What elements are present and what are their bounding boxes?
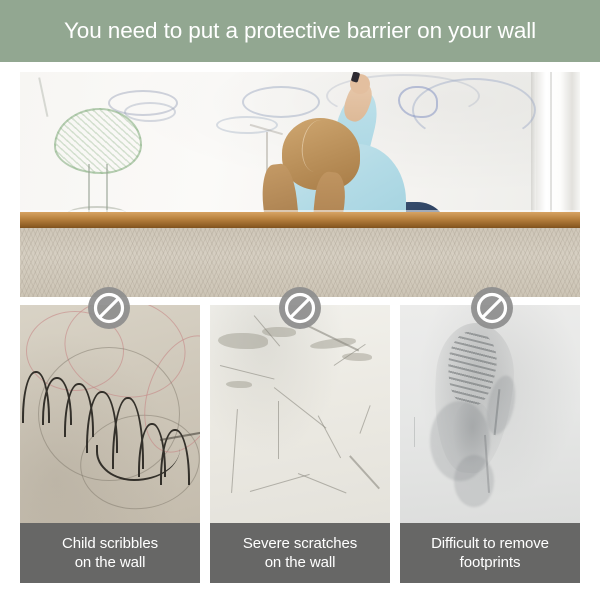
scuff-line-3 xyxy=(414,417,415,447)
no-sign-icon xyxy=(279,287,321,329)
door-trim xyxy=(536,72,580,232)
prohibition-badge-1 xyxy=(88,287,130,329)
caption-line-1: Difficult to remove xyxy=(431,534,549,553)
card-caption-child-scribbles: Child scribbles on the wall xyxy=(20,523,200,583)
caption-line-1: Severe scratches xyxy=(243,534,357,553)
crayon-tree-trunk-doodle xyxy=(88,164,108,212)
door-trim-line xyxy=(550,72,552,232)
page-title: You need to put a protective barrier on … xyxy=(64,18,536,44)
card-caption-difficult-footprints: Difficult to remove footprints xyxy=(400,523,580,583)
photo-footprint-smudge xyxy=(400,305,580,523)
caption-line-1: Child scribbles xyxy=(62,534,158,553)
prohibition-badge-2 xyxy=(279,287,321,329)
caption-line-2: footprints xyxy=(460,553,521,572)
problem-card-severe-scratches: Severe scratches on the wall xyxy=(210,305,390,583)
header-bar: You need to put a protective barrier on … xyxy=(0,0,600,62)
no-sign-icon xyxy=(88,287,130,329)
prohibition-badge-3 xyxy=(471,287,513,329)
hero-photo-child-drawing-on-wall xyxy=(20,72,580,297)
paint-gouge-5 xyxy=(226,381,252,388)
photo-severe-scratches xyxy=(210,305,390,523)
photo-child-scribbles xyxy=(20,305,200,523)
product-banner-page: You need to put a protective barrier on … xyxy=(0,0,600,600)
problem-card-difficult-footprints: Difficult to remove footprints xyxy=(400,305,580,583)
problem-card-child-scribbles: Child scribbles on the wall xyxy=(20,305,200,583)
caption-line-2: on the wall xyxy=(265,553,336,572)
card-caption-severe-scratches: Severe scratches on the wall xyxy=(210,523,390,583)
caption-line-2: on the wall xyxy=(75,553,146,572)
problem-cards-row: Child scribbles on the wall xyxy=(20,305,580,583)
crayon-cloud-doodle-2 xyxy=(124,102,176,122)
no-sign-icon xyxy=(471,287,513,329)
scratch-line-5 xyxy=(278,401,279,459)
